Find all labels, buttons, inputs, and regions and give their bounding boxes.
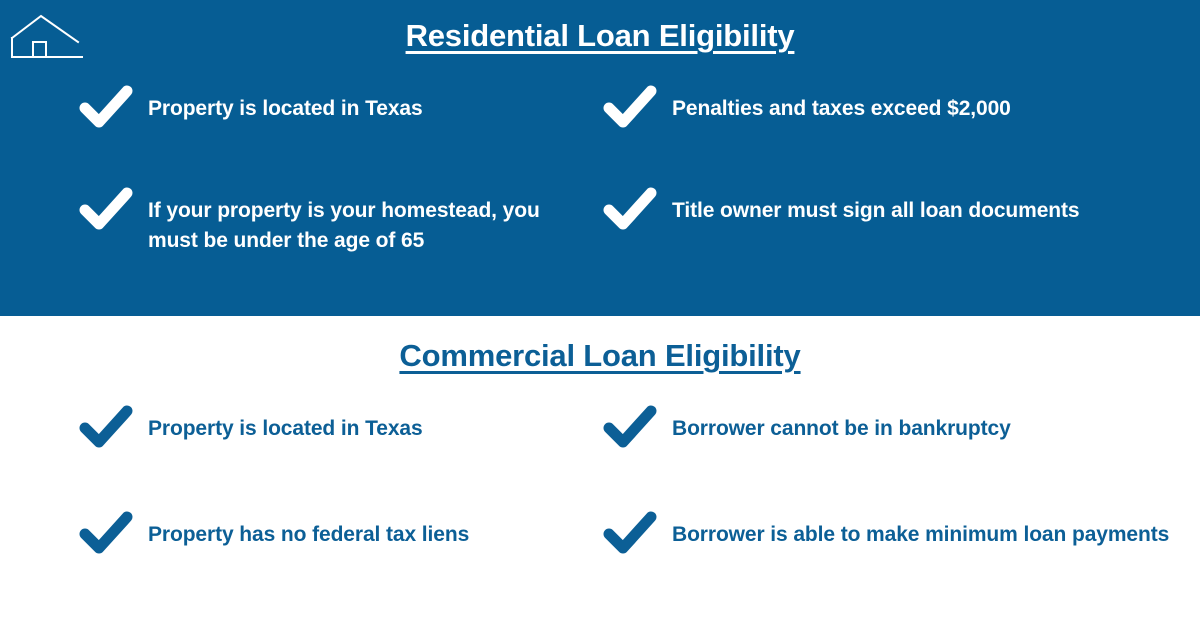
checklist-item: Borrower is able to make minimum loan pa…	[590, 514, 1200, 558]
checklist-item-label: Title owner must sign all loan documents	[672, 190, 1080, 226]
residential-checklist: Property is located in Texas Penalties a…	[0, 88, 1200, 256]
checkmark-icon	[78, 82, 134, 132]
commercial-heading: Commercial Loan Eligibility	[0, 338, 1200, 374]
checkmark-icon	[602, 508, 658, 558]
checkmark-icon	[78, 184, 134, 234]
commercial-checklist: Property is located in Texas Borrower ca…	[0, 408, 1200, 558]
checklist-item-label: Property is located in Texas	[148, 408, 423, 444]
checklist-item: If your property is your homestead, you …	[0, 190, 590, 256]
checklist-item-label: Penalties and taxes exceed $2,000	[672, 88, 1011, 124]
checklist-item: Penalties and taxes exceed $2,000	[590, 88, 1200, 132]
checklist-item: Borrower cannot be in bankruptcy	[590, 408, 1200, 452]
residential-heading: Residential Loan Eligibility	[0, 18, 1200, 54]
checklist-item-label: Borrower cannot be in bankruptcy	[672, 408, 1011, 444]
loan-eligibility-infographic: Residential Loan Eligibility Property is…	[0, 0, 1200, 630]
checkmark-icon	[602, 184, 658, 234]
checklist-item: Property is located in Texas	[0, 88, 590, 132]
checklist-item-label: Property has no federal tax liens	[148, 514, 469, 550]
checklist-item-label: If your property is your homestead, you …	[148, 190, 572, 256]
residential-heading-text: Residential Loan Eligibility	[406, 18, 795, 53]
checkmark-icon	[602, 82, 658, 132]
checkmark-icon	[78, 508, 134, 558]
residential-section: Residential Loan Eligibility Property is…	[0, 0, 1200, 316]
checklist-item: Title owner must sign all loan documents	[590, 190, 1200, 256]
checklist-item: Property is located in Texas	[0, 408, 590, 452]
checklist-item-label: Borrower is able to make minimum loan pa…	[672, 514, 1169, 550]
checkmark-icon	[602, 402, 658, 452]
checklist-item: Property has no federal tax liens	[0, 514, 590, 558]
checklist-item-label: Property is located in Texas	[148, 88, 423, 124]
checkmark-icon	[78, 402, 134, 452]
commercial-heading-text: Commercial Loan Eligibility	[399, 338, 800, 373]
